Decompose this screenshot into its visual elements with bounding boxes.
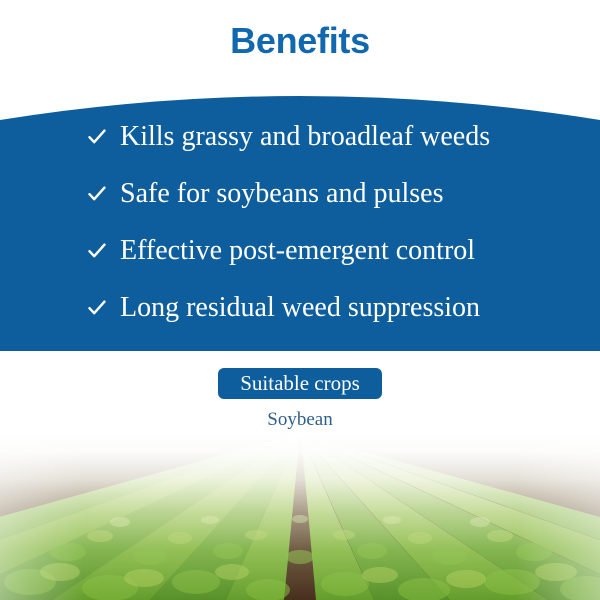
soybean-field-photo [0, 432, 600, 600]
suitable-crops-badge: Suitable crops [218, 368, 382, 399]
benefit-label: Effective post-emergent control [120, 235, 475, 267]
benefit-item: Effective post-emergent control [88, 233, 568, 269]
benefit-label: Safe for soybeans and pulses [120, 178, 443, 210]
suitable-crops-value: Soybean [0, 409, 600, 431]
suitable-crops-section: Suitable crops Soybean [0, 368, 600, 431]
benefits-list: Kills grassy and broadleaf weeds Safe fo… [0, 78, 600, 351]
check-icon [88, 299, 106, 317]
benefit-label: Long residual weed suppression [120, 292, 480, 324]
benefit-item: Long residual weed suppression [88, 290, 568, 326]
check-icon [88, 185, 106, 203]
benefit-item: Safe for soybeans and pulses [88, 176, 568, 212]
benefit-label: Kills grassy and broadleaf weeds [120, 121, 490, 153]
check-icon [88, 242, 106, 260]
page-title: Benefits [0, 20, 600, 62]
benefits-card: Benefits Kills grassy and broadleaf weed… [0, 0, 600, 600]
check-icon [88, 128, 106, 146]
benefit-item: Kills grassy and broadleaf weeds [88, 119, 568, 155]
soybean-field-illustration [0, 432, 600, 600]
